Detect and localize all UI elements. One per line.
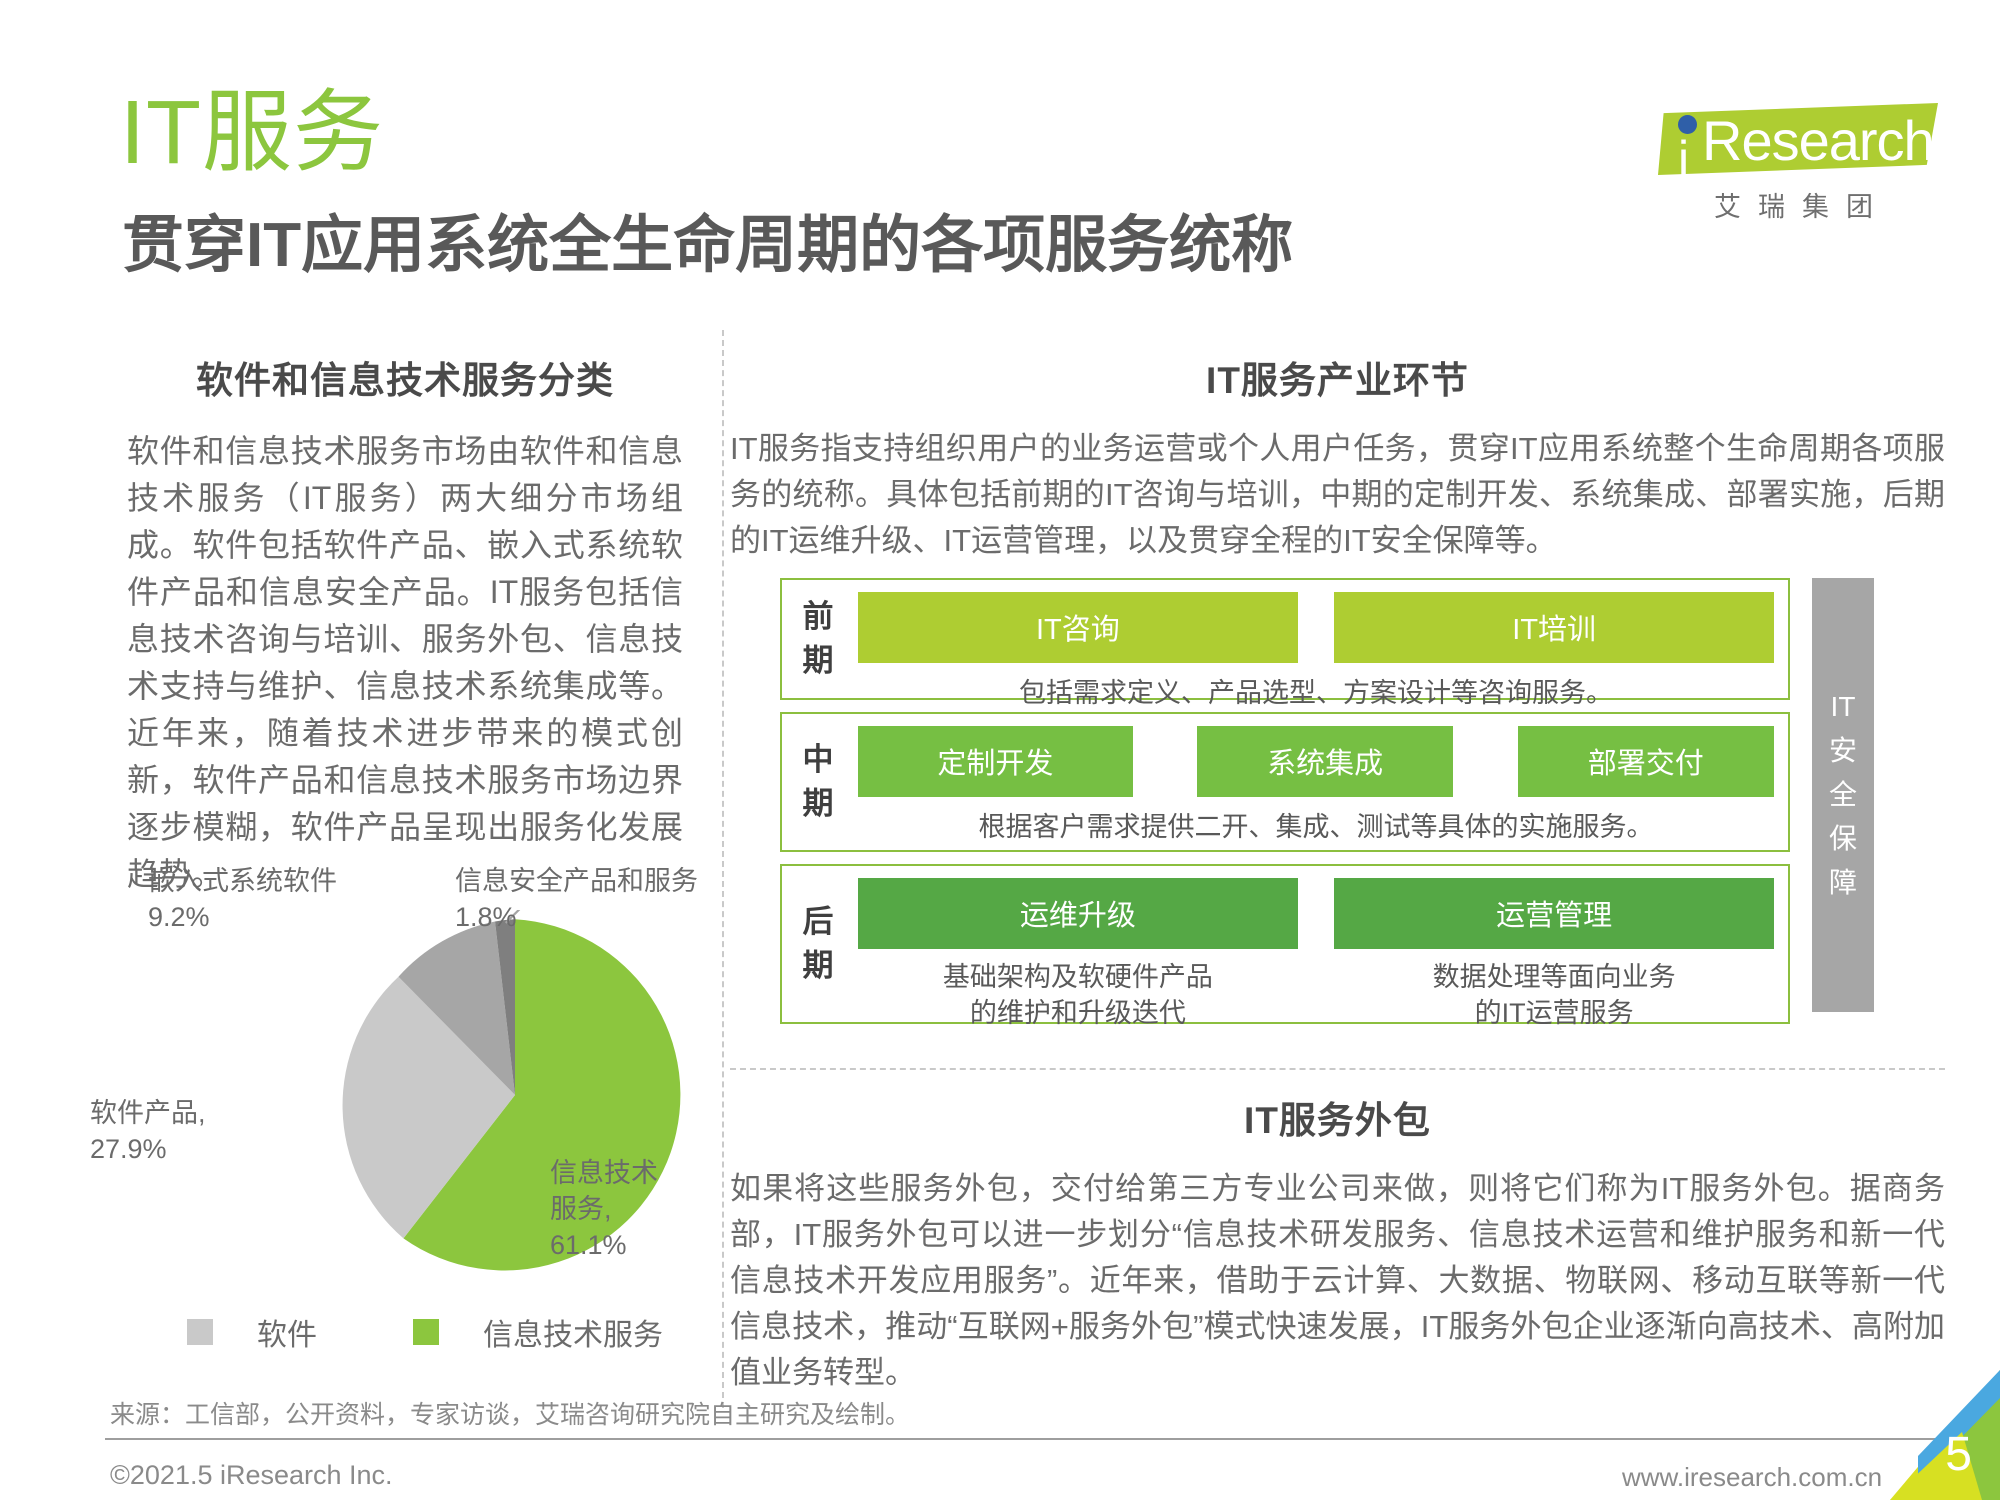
- legend-label-it-services: 信息技术服务: [483, 1310, 663, 1354]
- pie-label-security-products: 信息安全产品和服务 1.8%: [455, 863, 735, 935]
- pie-label-embedded-value: 9.2%: [148, 902, 210, 932]
- pie-label-embedded-text: 嵌入式系统软件: [148, 866, 337, 896]
- pie-label-security-value: 1.8%: [455, 902, 517, 932]
- stage-note-late-right: 数据处理等面向业务 的IT运营服务: [1334, 959, 1774, 1031]
- legend-item-it-services: 信息技术服务: [413, 1310, 663, 1354]
- outsourcing-body: 如果将这些服务外包，交付给第三方专业公司来做，则将它们称为IT服务外包。据商务部…: [730, 1166, 1945, 1396]
- security-bar-char-3: 保: [1829, 817, 1857, 861]
- stage-label-mid-char2: 期: [803, 782, 834, 826]
- stage-row-mid: 中 期 定制开发 系统集成 部署交付 根据客户需求提供二开、集成、测试等具体的实…: [780, 712, 1790, 852]
- pie-label-software-text: 软件产品,: [90, 1098, 206, 1128]
- pie-label-it-services: 信息技术 服务, 61.1%: [550, 1155, 740, 1263]
- pie-label-itserv-text2: 服务,: [550, 1194, 612, 1224]
- stage-rows: 前 期 IT咨询 IT培训 包括需求定义、产品选型、方案设计等咨询服务。 中 期…: [780, 578, 1790, 1036]
- horizontal-divider: [730, 1068, 1945, 1070]
- pie-label-embedded-software: 嵌入式系统软件 9.2%: [148, 863, 418, 935]
- stage-note-early: 包括需求定义、产品选型、方案设计等咨询服务。: [858, 675, 1774, 711]
- page-header: IT服务 贯穿IT应用系统全生命周期的各项服务统称 i Research 艾瑞集…: [0, 0, 2000, 300]
- stage-content-mid: 定制开发 系统集成 部署交付 根据客户需求提供二开、集成、测试等具体的实施服务。: [854, 714, 1788, 850]
- chip-row-late: 运维升级 运营管理: [858, 878, 1774, 949]
- pie-label-security-text: 信息安全产品和服务: [455, 866, 698, 896]
- legend-swatch-software: [187, 1319, 213, 1345]
- right-panel-body: IT服务指支持组织用户的业务运营或个人用户任务，贯穿IT应用系统整个生命周期各项…: [730, 426, 1945, 564]
- chip-ops-upgrade[interactable]: 运维升级: [858, 878, 1298, 949]
- it-security-bar: IT 安 全 保 障: [1812, 578, 1874, 1012]
- pie-label-software-value: 27.9%: [90, 1134, 167, 1164]
- legend-swatch-it-services: [413, 1319, 439, 1345]
- logo-wordmark: Research: [1702, 111, 1934, 171]
- right-panel-heading: IT服务产业环节: [730, 350, 1945, 404]
- outsourcing-heading: IT服务外包: [730, 1090, 1945, 1144]
- stage-label-early-char2: 期: [803, 639, 834, 683]
- security-bar-char-1: 安: [1829, 729, 1857, 773]
- stage-label-mid: 中 期: [782, 714, 854, 850]
- source-note: 来源：工信部，公开资料，专家访谈，艾瑞咨询研究院自主研究及绘制。: [110, 1395, 910, 1431]
- stage-note-late-left: 基础架构及软硬件产品 的维护和升级迭代: [858, 959, 1298, 1031]
- chip-it-training[interactable]: IT培训: [1334, 592, 1774, 663]
- stage-content-late: 运维升级 运营管理 基础架构及软硬件产品 的维护和升级迭代 数据处理等面向业务 …: [854, 866, 1788, 1022]
- chip-it-consulting[interactable]: IT咨询: [858, 592, 1298, 663]
- it-service-lifecycle-diagram: 前 期 IT咨询 IT培训 包括需求定义、产品选型、方案设计等咨询服务。 中 期…: [780, 578, 1900, 1038]
- stage-content-early: IT咨询 IT培训 包括需求定义、产品选型、方案设计等咨询服务。: [854, 580, 1788, 698]
- page-subtitle: 贯穿IT应用系统全生命周期的各项服务统称: [122, 215, 1293, 277]
- stage-label-early-char1: 前: [803, 595, 834, 639]
- left-panel-heading: 软件和信息技术服务分类: [105, 350, 705, 404]
- left-panel: 软件和信息技术服务分类 软件和信息技术服务市场由软件和信息技术服务（IT服务）两…: [105, 350, 705, 898]
- logo-letter-i: i: [1678, 137, 1689, 181]
- pie-label-itserv-value: 61.1%: [550, 1230, 627, 1260]
- legend-label-software: 软件: [257, 1310, 317, 1354]
- chip-system-integration[interactable]: 系统集成: [1197, 726, 1453, 797]
- security-bar-char-0: IT: [1831, 685, 1856, 729]
- outsourcing-panel: IT服务外包 如果将这些服务外包，交付给第三方专业公司来做，则将它们称为IT服务…: [730, 1090, 1945, 1396]
- pie-label-itserv-text1: 信息技术: [550, 1158, 658, 1188]
- iresearch-logo: i Research 艾瑞集团: [1640, 95, 1960, 225]
- chip-operations-management[interactable]: 运营管理: [1334, 878, 1774, 949]
- copyright-text: ©2021.5 iResearch Inc.: [110, 1460, 393, 1491]
- chip-row-mid: 定制开发 系统集成 部署交付: [858, 726, 1774, 797]
- chip-custom-development[interactable]: 定制开发: [858, 726, 1133, 797]
- pie-chart: 嵌入式系统软件 9.2% 信息安全产品和服务 1.8% 软件产品, 27.9% …: [100, 855, 710, 1395]
- pie-label-software-products: 软件产品, 27.9%: [90, 1095, 270, 1167]
- stage-note-mid: 根据客户需求提供二开、集成、测试等具体的实施服务。: [858, 809, 1774, 845]
- corner-decoration-svg: [1870, 1370, 2000, 1500]
- note-row-late: 基础架构及软硬件产品 的维护和升级迭代 数据处理等面向业务 的IT运营服务: [858, 959, 1774, 1031]
- logo-company-cn: 艾瑞集团: [1662, 185, 1942, 224]
- stage-label-mid-char1: 中: [803, 738, 834, 782]
- corner-decoration: 5: [1870, 1370, 2000, 1500]
- left-panel-body: 软件和信息技术服务市场由软件和信息技术服务（IT服务）两大细分市场组成。软件包括…: [105, 428, 705, 898]
- footer-divider: [105, 1438, 1945, 1440]
- chip-deployment-delivery[interactable]: 部署交付: [1518, 726, 1774, 797]
- legend-item-software: 软件: [187, 1310, 317, 1354]
- stage-label-late-char2: 期: [803, 944, 834, 988]
- stage-label-late-char1: 后: [803, 900, 834, 944]
- stage-row-late: 后 期 运维升级 运营管理 基础架构及软硬件产品 的维护和升级迭代 数据处理等面…: [780, 864, 1790, 1024]
- chip-row-early: IT咨询 IT培训: [858, 592, 1774, 663]
- right-panel: IT服务产业环节 IT服务指支持组织用户的业务运营或个人用户任务，贯穿IT应用系…: [730, 350, 1945, 564]
- pie-legend: 软件 信息技术服务: [145, 1310, 705, 1354]
- security-bar-char-4: 障: [1829, 861, 1857, 905]
- page-number: 5: [1945, 1427, 1972, 1482]
- stage-label-early: 前 期: [782, 580, 854, 698]
- website-url[interactable]: www.iresearch.com.cn: [1622, 1462, 1882, 1493]
- stage-label-late: 后 期: [782, 866, 854, 1022]
- page-title: IT服务: [120, 88, 384, 178]
- security-bar-char-2: 全: [1829, 773, 1857, 817]
- stage-row-early: 前 期 IT咨询 IT培训 包括需求定义、产品选型、方案设计等咨询服务。: [780, 578, 1790, 700]
